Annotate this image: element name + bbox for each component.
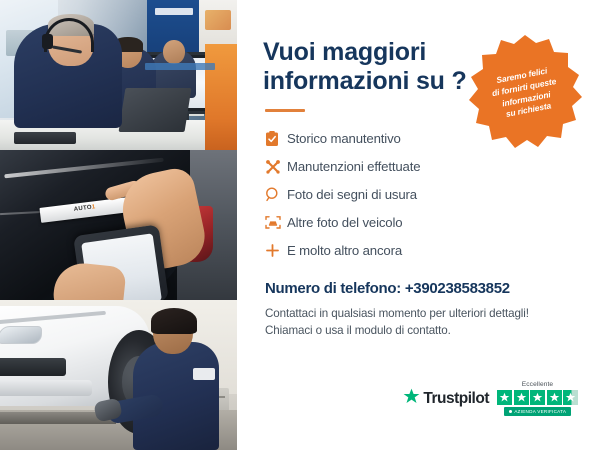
- front-grille: [0, 358, 66, 376]
- list-item: E molto altro ancora: [265, 241, 578, 260]
- contact-line-1: Contattaci in qualsiasi momento per ulte…: [265, 307, 529, 320]
- clipboard-check-icon: [265, 129, 287, 148]
- car-scan-frame-icon: [265, 213, 287, 232]
- photo-garage-inspection: [0, 300, 237, 450]
- star-icon: [403, 388, 420, 410]
- agent-three-head: [163, 40, 185, 64]
- hood-line: [0, 311, 106, 325]
- headline-line-2: informazioni su ?: [263, 67, 467, 95]
- keyboard: [14, 132, 76, 144]
- ruler-brand-label: AUTO1: [74, 204, 96, 213]
- promo-banner: AUTO1: [0, 0, 600, 450]
- star-icon: [547, 390, 562, 405]
- star-icon: [530, 390, 545, 405]
- badge-content: Saremo felici di fornirti queste informa…: [456, 23, 594, 161]
- laptop: [119, 88, 192, 132]
- title-divider: [265, 109, 305, 112]
- monitor-toolbar: [145, 63, 215, 70]
- list-item: Foto dei segni di usura: [265, 185, 578, 204]
- trustpilot-logo[interactable]: Trustpilot: [403, 388, 489, 416]
- mechanic-hair: [151, 308, 197, 334]
- status-badge: Saremo felici di fornirti queste informa…: [466, 33, 584, 151]
- tools-cross-icon: [265, 157, 287, 176]
- list-item-label: E molto altro ancora: [287, 243, 402, 258]
- magnifier-icon: [265, 185, 287, 204]
- star-icon: [497, 390, 512, 405]
- star-rating: [497, 390, 578, 405]
- phone-line: Numero di telefono: +390238583852: [265, 280, 578, 297]
- orange-wall-strip: [205, 44, 237, 150]
- rating-label: Eccellente: [522, 381, 553, 388]
- plus-icon: [265, 241, 287, 260]
- contact-line-2: Chiamaci o usa il modulo di contatto.: [265, 324, 451, 337]
- content-panel: Vuoi maggiori informazioni su ? Storico …: [237, 0, 600, 450]
- verified-business-badge: AZIENDA VERIFICATA: [504, 407, 571, 416]
- photo-column: AUTO1: [0, 0, 237, 450]
- star-icon-partial: [563, 390, 578, 405]
- verified-label: AZIENDA VERIFICATA: [514, 409, 566, 414]
- check-circle-icon: [509, 410, 513, 414]
- trustpilot-rating: Eccellente: [497, 381, 578, 416]
- contact-instructions: Contattaci in qualsiasi momento per ulte…: [265, 305, 578, 340]
- headline-line-1: Vuoi maggiori: [263, 38, 426, 66]
- phone-number[interactable]: +390238583852: [405, 280, 510, 297]
- star-icon: [514, 390, 529, 405]
- list-item-label: Manutenzioni effettuate: [287, 159, 420, 174]
- photo-body-inspection: AUTO1: [0, 150, 237, 300]
- front-bumper: [0, 380, 92, 396]
- list-item: Manutenzioni effettuate: [265, 157, 578, 176]
- headlight: [0, 326, 42, 344]
- phone-label: Numero di telefono:: [265, 280, 401, 297]
- uniform-logo-patch: [193, 368, 215, 380]
- page-title: Vuoi maggiori informazioni su ?: [263, 38, 475, 96]
- list-item-label: Storico manutentivo: [287, 131, 401, 146]
- trustpilot-wordmark: Trustpilot: [423, 390, 489, 408]
- list-item: Altre foto del veicolo: [265, 213, 578, 232]
- photo-call-center: [0, 0, 237, 150]
- list-item-label: Altre foto del veicolo: [287, 215, 402, 230]
- list-item-label: Foto dei segni di usura: [287, 187, 417, 202]
- trustpilot-widget[interactable]: Trustpilot Eccellente: [403, 381, 578, 416]
